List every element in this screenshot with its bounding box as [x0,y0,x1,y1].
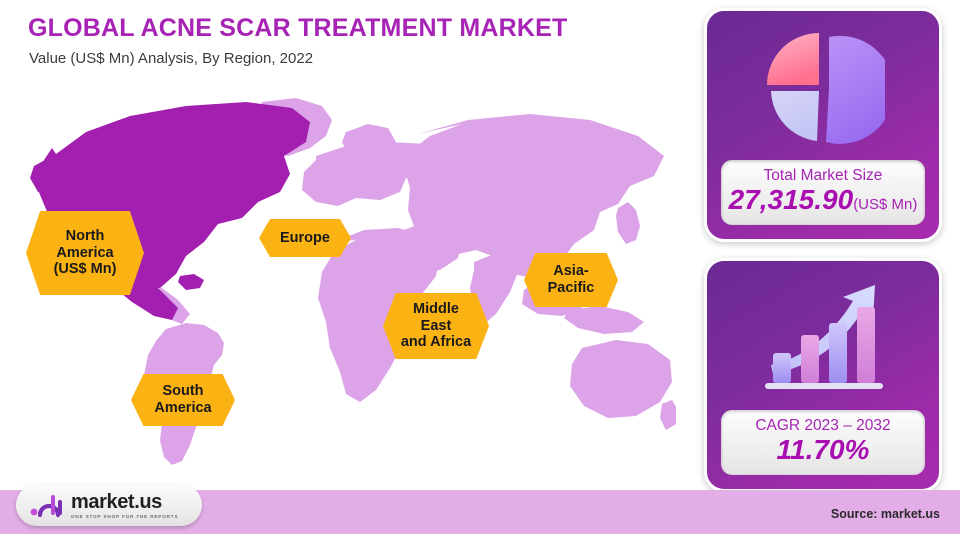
cagr-valuebox: CAGR 2023 – 2032 11.70% [721,410,925,475]
source-text: Source: market.us [831,507,940,521]
bar-3 [829,323,847,383]
map-label-north-america-text: North America (US$ Mn) [54,228,117,278]
total-market-size-unit: (US$ Mn) [853,196,917,213]
pie-slice-pink [767,33,819,85]
map-label-europe[interactable]: Europe [259,219,351,257]
cagr-value: 11.70% [726,435,920,466]
chart-baseline [765,383,883,389]
logo-tagline: ONE STOP SHOP FOR THE REPORTS [71,514,178,519]
page-title: GLOBAL ACNE SCAR TREATMENT MARKET [28,14,567,43]
bar-chart-growth-icon-area [707,267,939,409]
map-region-caribbean [178,274,204,290]
map-label-south-america[interactable]: South America [131,374,235,426]
cagr-label: CAGR 2023 – 2032 [726,417,920,435]
bar-chart-growth-icon [757,279,889,397]
total-market-size-valuebox: Total Market Size 27,315.90(US$ Mn) [721,160,925,225]
map-label-middle-east-and-africa[interactable]: Middle East and Africa [383,293,489,359]
market-us-logo-icon [30,492,64,518]
logo-bar-2 [58,500,62,515]
map-label-asia-pacific-text: Asia- Pacific [548,263,595,296]
pie-chart-icon [761,29,885,147]
page-subtitle: Value (US$ Mn) Analysis, By Region, 2022 [29,50,313,67]
map-label-north-america[interactable]: North America (US$ Mn) [26,211,144,295]
total-market-size-card: Total Market Size 27,315.90(US$ Mn) [704,8,942,242]
bar-1 [773,353,791,383]
total-market-size-value: 27,315.90 [729,184,854,215]
market-us-logo-text: market.us ONE STOP SHOP FOR THE REPORTS [71,492,178,519]
map-region-japan [616,202,640,244]
pie-chart-icon-area [707,17,939,159]
total-market-size-label: Total Market Size [726,167,920,185]
map-region-indonesia [564,306,644,334]
bar-4 [857,307,875,383]
market-us-logo[interactable]: market.us ONE STOP SHOP FOR THE REPORTS [16,484,202,526]
logo-dot [31,509,38,516]
infographic-canvas: GLOBAL ACNE SCAR TREATMENT MARKET Value … [0,0,960,534]
map-label-asia-pacific[interactable]: Asia- Pacific [524,253,618,307]
map-label-middle-east-and-africa-text: Middle East and Africa [401,301,471,351]
map-label-europe-text: Europe [280,230,330,247]
map-label-south-america-text: South America [154,383,211,416]
total-market-size-value-row: 27,315.90(US$ Mn) [726,185,920,216]
map-region-australia [570,340,672,418]
logo-bar-1 [51,495,55,515]
pie-slice-purple [826,36,885,144]
pie-slice-lavender [771,91,819,141]
logo-arc [40,506,58,515]
map-region-new-zealand [660,400,676,430]
logo-name: market.us [71,492,178,512]
cagr-card: CAGR 2023 – 2032 11.70% [704,258,942,492]
bar-2 [801,335,819,383]
